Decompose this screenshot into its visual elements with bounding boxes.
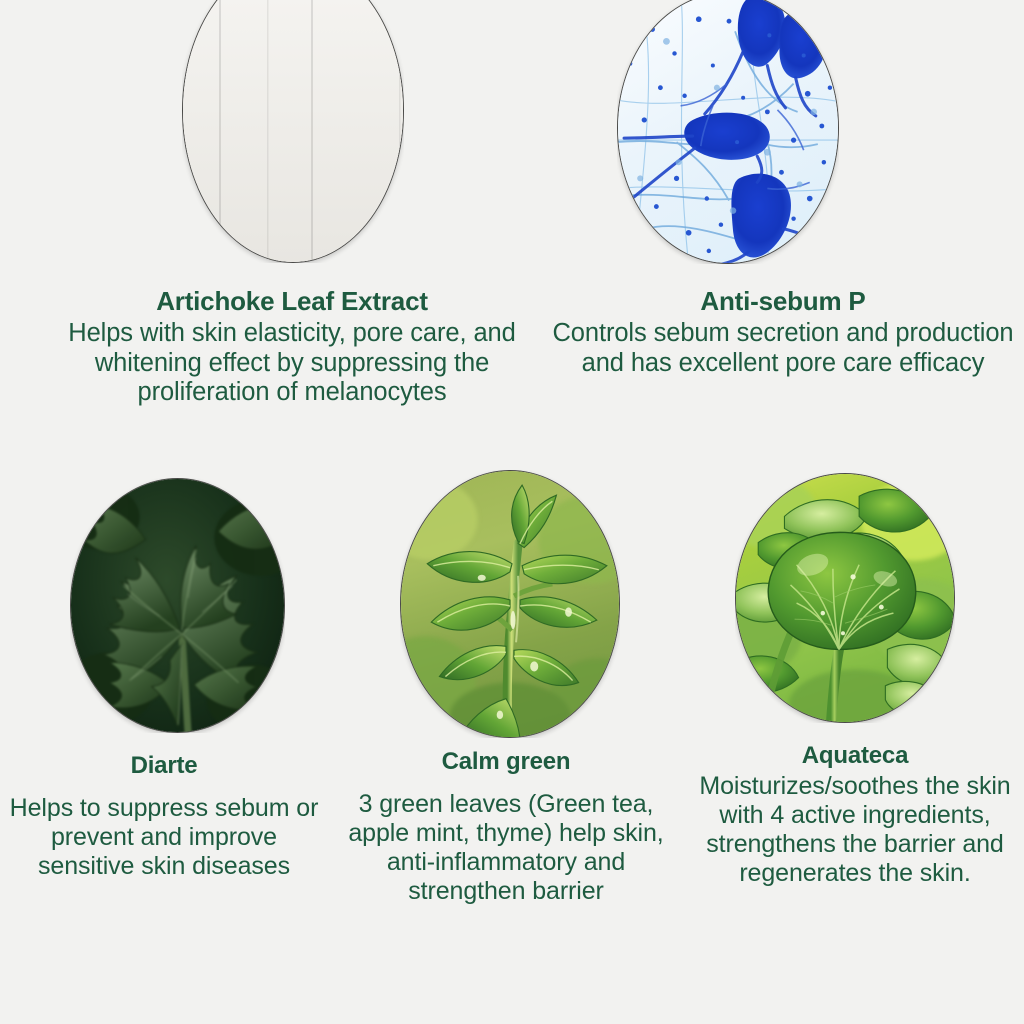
- artichoke-title: Artichoke Leaf Extract: [42, 286, 542, 316]
- diarte-caption: Diarte Helps to suppress sebum or preven…: [0, 752, 328, 881]
- centella-illustration: [735, 473, 955, 723]
- calm-green-caption: Calm green 3 green leaves (Green tea, ap…: [330, 748, 682, 906]
- centella-photo: [735, 473, 955, 723]
- artichoke-caption: Artichoke Leaf Extract Helps with skin e…: [42, 286, 542, 408]
- artichoke-photo-frame: [182, 0, 404, 263]
- anti-sebum-caption: Anti-sebum P Controls sebum secretion an…: [548, 286, 1018, 378]
- tea-shoot-illustration: [400, 470, 620, 738]
- diarte-description: Helps to suppress sebum or prevent and i…: [0, 794, 328, 881]
- anti-sebum-title: Anti-sebum P: [548, 286, 1018, 316]
- diarte-photo-frame: [70, 478, 285, 733]
- green-tea-shoot-photo: [400, 470, 620, 738]
- aquateca-caption: Aquateca Moisturizes/soothes the skin wi…: [690, 742, 1020, 888]
- calm-green-title: Calm green: [330, 748, 682, 776]
- aquateca-photo-frame: [735, 473, 955, 723]
- mugwort-illustration: [70, 478, 285, 733]
- diarte-title: Diarte: [0, 752, 328, 780]
- infographic-board: Artichoke Leaf Extract Helps with skin e…: [0, 0, 1024, 1024]
- aquateca-title: Aquateca: [690, 742, 1020, 770]
- calm-green-photo-frame: [400, 470, 620, 738]
- anti-sebum-photo-frame: [617, 0, 839, 264]
- calm-green-description: 3 green leaves (Green tea, apple mint, t…: [330, 790, 682, 906]
- aquateca-description: Moisturizes/soothes the skin with 4 acti…: [690, 772, 1020, 888]
- neuron-micrograph-illustration: [617, 0, 839, 264]
- mugwort-photo: [70, 478, 285, 733]
- artichoke-description: Helps with skin elasticity, pore care, a…: [42, 319, 542, 408]
- artichoke-photo: [182, 0, 404, 263]
- anti-sebum-micrograph: [617, 0, 839, 264]
- anti-sebum-description: Controls sebum secretion and production …: [548, 319, 1018, 378]
